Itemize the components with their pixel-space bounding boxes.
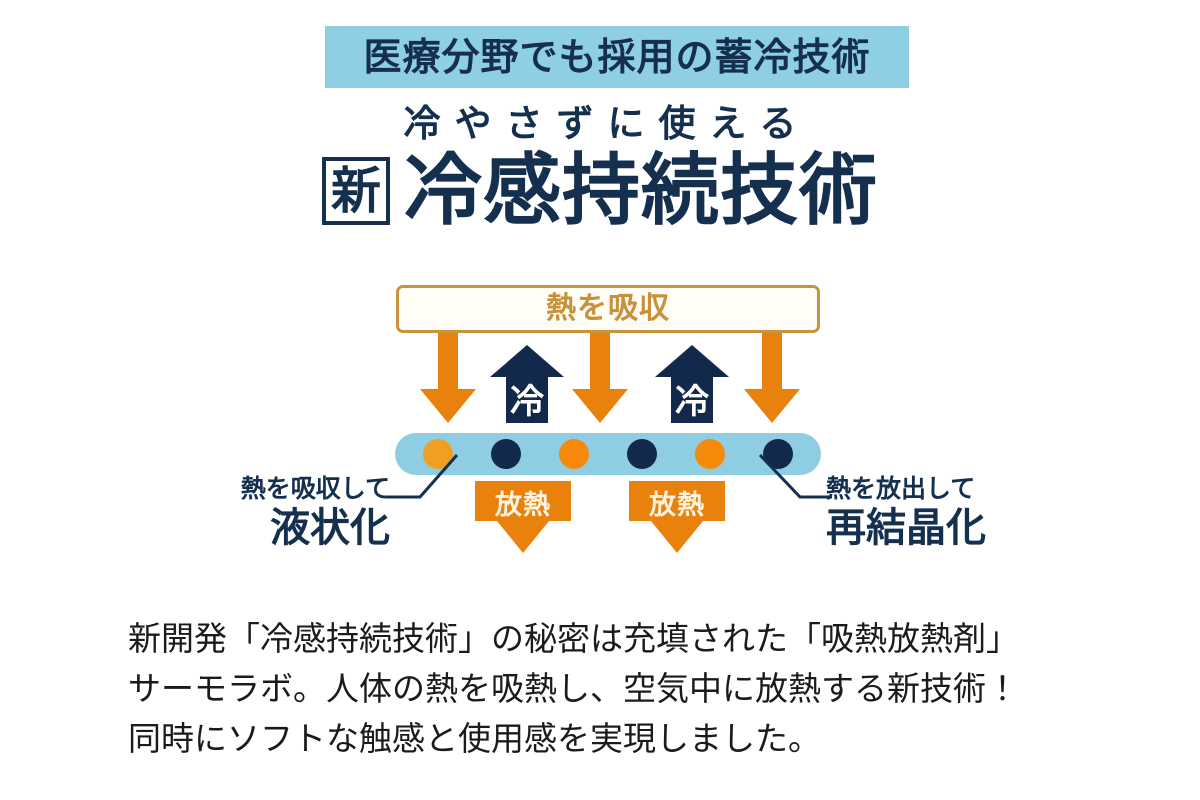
- callout-liquefaction-sub: 熱を吸収して: [190, 475, 390, 504]
- heat-down-arrow-icon: [572, 333, 628, 423]
- eyebrow-banner: 医療分野でも採用の蓄冷技術: [325, 26, 909, 88]
- headline-row: 新 冷感持続技術: [0, 152, 1200, 230]
- heat-release-arrow: 放熱: [629, 481, 725, 553]
- heat-release-label: 放熱: [629, 485, 725, 525]
- heat-absorb-box: 熱を吸収: [396, 285, 820, 333]
- pcm-dot-crystal: [763, 439, 793, 469]
- new-badge: 新: [322, 157, 390, 225]
- heat-down-arrow-icon: [420, 333, 476, 423]
- heat-exchange-diagram: 熱を吸収 冷 冷: [0, 275, 1200, 595]
- cool-up-arrow-label: 冷: [655, 345, 729, 423]
- pcm-dot-liquid: [695, 439, 725, 469]
- body-copy-line-3: 同時にソフトな触感と使用感を実現しました。: [128, 714, 1088, 764]
- cool-up-arrow: 冷: [490, 345, 564, 423]
- callout-recrystallization-sub: 熱を放出して: [826, 475, 1046, 504]
- callout-liquefaction-title: 液状化: [190, 505, 390, 551]
- headline-kicker: 冷やさずに使える: [0, 104, 1200, 145]
- body-copy-line-2: サーモラボ。人体の熱を吸熱し、空気中に放熱する新技術！: [128, 664, 1088, 714]
- callout-liquefaction: 熱を吸収して 液状化: [190, 475, 390, 551]
- fabric-bar: [395, 433, 821, 475]
- heat-release-label: 放熱: [475, 485, 571, 525]
- heat-down-arrow-icon: [744, 333, 800, 423]
- callout-recrystallization: 熱を放出して 再結晶化: [826, 475, 1046, 551]
- headline-title: 冷感持続技術: [404, 152, 878, 230]
- new-badge-label: 新: [331, 166, 381, 216]
- cool-up-arrow: 冷: [655, 345, 729, 423]
- pcm-dot-crystal: [491, 439, 521, 469]
- callout-recrystallization-title: 再結晶化: [826, 505, 1046, 551]
- heat-release-arrow: 放熱: [475, 481, 571, 553]
- pcm-dot-crystal: [627, 439, 657, 469]
- body-copy: 新開発「冷感持続技術」の秘密は充填された「吸熱放熱剤」 サーモラボ。人体の熱を吸…: [128, 614, 1088, 764]
- pcm-dot-liquid: [423, 439, 453, 469]
- cool-up-arrow-label: 冷: [490, 345, 564, 423]
- eyebrow-banner-text: 医療分野でも採用の蓄冷技術: [363, 38, 870, 76]
- body-copy-line-1: 新開発「冷感持続技術」の秘密は充填された「吸熱放熱剤」: [128, 614, 1088, 664]
- pcm-dot-liquid: [559, 439, 589, 469]
- heat-absorb-label: 熱を吸収: [546, 294, 670, 324]
